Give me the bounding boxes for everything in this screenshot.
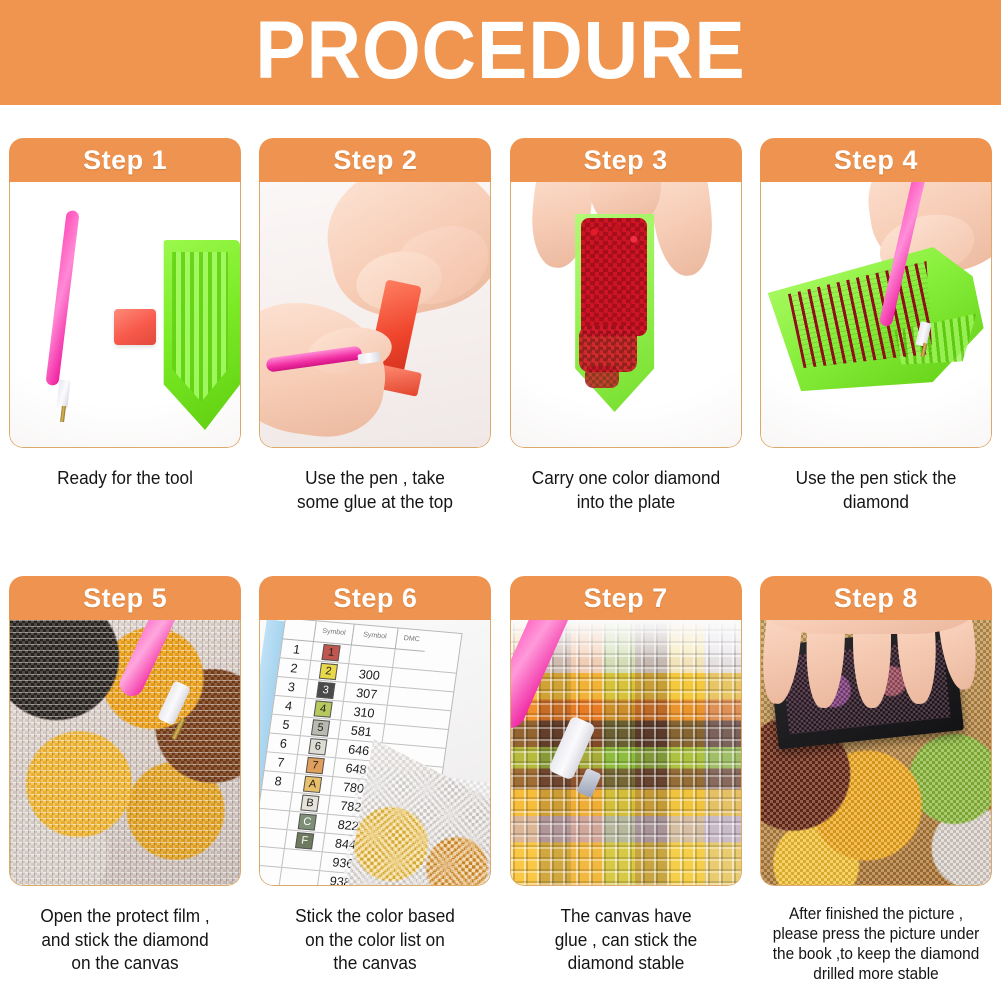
chart-cell-symbol: 5 [300,717,340,738]
chart-cell-symbol: 3 [305,680,345,701]
symbol-swatch: B [301,795,320,812]
step-header-8: Step 8 [760,576,992,620]
step-cell-6: Step 6 Symbol Symbol DMC [250,576,500,985]
chart-cell-no: 2 [278,658,310,678]
chart-cell-no: 6 [268,733,300,753]
chart-cell-no: 5 [270,715,302,735]
symbol-swatch: A [303,776,322,793]
page-title: PROCEDURE [255,10,745,92]
step-header-label-8: Step 8 [834,583,918,614]
step-caption-7: The canvas have glue , can stick the dia… [513,904,738,975]
step-body-5 [9,620,241,886]
step-body-6: Symbol Symbol DMC 1122300333074431055581… [259,620,491,886]
step-header-4: Step 4 [760,138,992,182]
step-photo-5 [10,620,240,885]
step-cell-3: Step 3 [501,138,751,513]
chart-cell-no: 3 [276,677,308,697]
step-photo-8 [761,620,991,885]
step-card-1[interactable]: Step 1 [9,138,241,448]
step-body-1 [9,182,241,448]
symbol-swatch: F [295,832,314,849]
step-card-6[interactable]: Step 6 Symbol Symbol DMC [259,576,491,886]
step-cell-8: Step 8 [751,576,1001,985]
step-body-3 [510,182,742,448]
pink-glue-clay-square-icon [114,309,156,345]
chart-cell-symbol [279,868,319,885]
step-header-label-4: Step 4 [834,145,918,176]
symbol-swatch: 7 [306,757,325,774]
step-body-4 [760,182,992,448]
chart-cell-symbol [282,849,322,870]
step-header-label-3: Step 3 [584,145,668,176]
step-header-label-2: Step 2 [333,145,417,176]
page-banner: PROCEDURE [0,0,1001,105]
symbol-swatch: 4 [314,700,333,717]
chart-cell-symbol: C [287,811,327,832]
steps-row-2: Step 5 Open the protect film , and [0,576,1001,985]
step-cell-5: Step 5 Open the protect film , and [0,576,250,985]
step-cell-2: Step 2 [250,138,500,513]
chart-cell-extra [390,668,422,688]
chart-cell-no: 7 [265,752,297,772]
chart-cell-no [260,809,289,829]
chart-cell-extra [393,649,425,669]
chart-cell-symbol: B [290,793,330,814]
symbol-swatch: 2 [319,663,338,680]
step-card-7[interactable]: Step 7 [510,576,742,886]
step-photo-6: Symbol Symbol DMC 1122300333074431055581… [260,620,490,885]
chart-cell-dmc: 581 [338,721,384,743]
symbol-swatch: 6 [309,738,328,755]
chart-cell-symbol: 6 [298,736,338,757]
step-photo-2 [260,182,490,447]
step-header-label-7: Step 7 [584,583,668,614]
step-header-label-1: Step 1 [83,145,167,176]
chart-cell-symbol: F [284,830,324,851]
step-header-6: Step 6 [259,576,491,620]
step-header-label-6: Step 6 [333,583,417,614]
chart-cell-dmc: 310 [341,702,387,724]
chart-cell-extra [382,724,414,744]
step-caption-8: After finished the picture , please pres… [760,904,993,985]
chart-cell-extra [385,706,417,726]
step-header-7: Step 7 [510,576,742,620]
step-caption-6: Stick the color based on the color list … [263,904,488,975]
symbol-swatch: 1 [322,644,341,661]
chart-cell-symbol: 4 [303,698,343,719]
step-header-3: Step 3 [510,138,742,182]
step-photo-3 [511,182,741,447]
chart-cell-extra [387,687,419,707]
step-photo-7 [511,620,741,885]
symbol-swatch: 5 [311,719,330,736]
step-photo-1 [10,182,240,447]
chart-cell-symbol: 1 [311,642,351,663]
step-cell-1: Step 1 [0,138,250,513]
symbol-swatch: C [298,813,317,830]
step-caption-1: Ready for the tool [13,466,238,490]
chart-cell-no: 8 [262,771,294,791]
step-cell-7: Step 7 The canvas hav [501,576,751,985]
green-diamond-tray-icon [162,240,240,430]
chart-cell-no [260,790,292,810]
chart-cell-symbol: A [292,774,332,795]
step-body-7 [510,620,742,886]
step-body-2 [259,182,491,448]
step-header-5: Step 5 [9,576,241,620]
step-body-8 [760,620,992,886]
chart-cell-no: 1 [281,639,313,659]
step-header-1: Step 1 [9,138,241,182]
procedure-infographic: PROCEDURE Step 1 [0,0,1001,1001]
step-caption-4: Use the pen stick the diamond [763,466,988,513]
step-caption-2: Use the pen , take some glue at the top [263,466,488,513]
step-card-2[interactable]: Step 2 [259,138,491,448]
chart-cell-symbol: 2 [308,661,348,682]
step-caption-3: Carry one color diamond into the plate [513,466,738,513]
step-card-5[interactable]: Step 5 [9,576,241,886]
chart-cell-dmc [349,645,395,667]
red-diamond-beads-icon [577,218,651,396]
step-header-label-5: Step 5 [83,583,167,614]
chart-cell-symbol: 7 [295,755,335,776]
step-photo-4 [761,182,991,447]
banner-spacer [0,105,1001,138]
chart-cell-dmc: 307 [343,683,389,705]
symbol-swatch: 3 [317,682,336,699]
steps-row-1: Step 1 [0,138,1001,513]
step-cell-4: Step 4 [751,138,1001,513]
chart-cell-dmc: 300 [346,664,392,686]
step-card-8[interactable]: Step 8 [760,576,992,886]
step-header-2: Step 2 [259,138,491,182]
step-card-4[interactable]: Step 4 [760,138,992,448]
step-caption-5: Open the protect film , and stick the di… [13,904,238,975]
chart-cell-no [260,828,286,848]
step-card-3[interactable]: Step 3 [510,138,742,448]
chart-cell-no: 4 [273,696,305,716]
